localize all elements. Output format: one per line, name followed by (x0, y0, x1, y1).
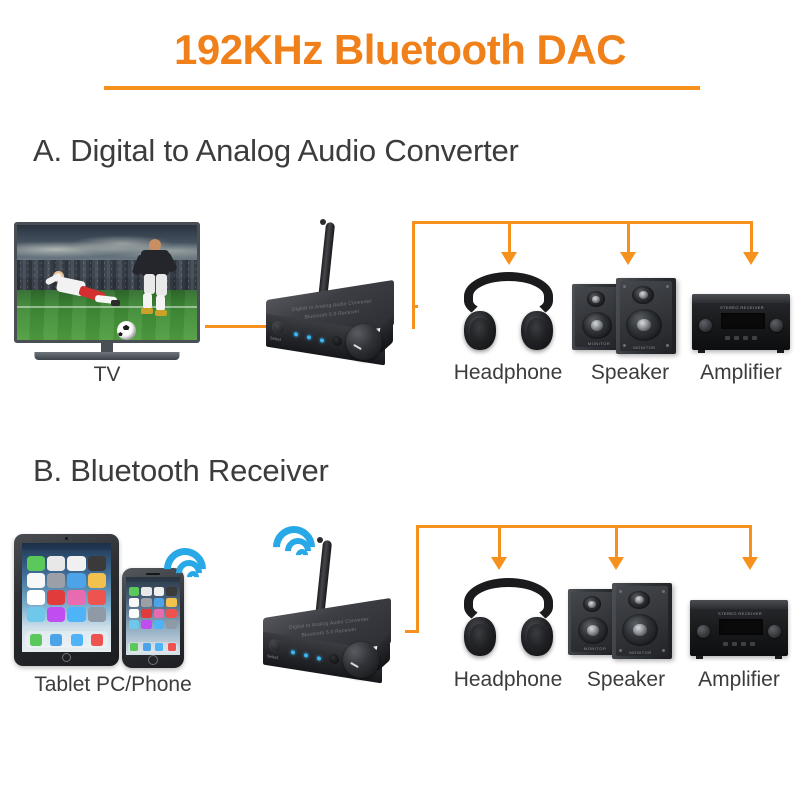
title-underline (104, 86, 700, 90)
tweeter-right (632, 286, 654, 304)
bus-main-b (416, 525, 752, 528)
bus-drop-speaker-b (615, 525, 618, 559)
tablet-screen (22, 543, 111, 653)
bus-drop-amplifier-a (750, 221, 753, 254)
tablet-dock[interactable] (25, 631, 107, 647)
bus-riser-a (412, 305, 415, 329)
caption-headphone-a: Headphone (428, 361, 588, 385)
led-indicator-3 (320, 338, 324, 343)
amplifier-device-b: STEREO RECEIVER (690, 600, 788, 656)
woofer-right (626, 309, 662, 341)
woofer-left (582, 312, 612, 339)
app-icon[interactable] (141, 620, 152, 629)
speaker-left-logo: MONITOR (588, 341, 610, 346)
headphone-device-b (464, 578, 553, 656)
led-indicator-2 (307, 335, 311, 340)
amplifier-knob-right[interactable] (770, 319, 783, 332)
amplifier-top (692, 294, 790, 303)
app-icon[interactable] (47, 590, 65, 605)
caption-tv: TV (14, 363, 200, 387)
app-icon[interactable] (67, 556, 85, 571)
dac-device-b: Digital to Analog Audio Converter Blueto… (255, 530, 407, 670)
wifi-icon-dac (271, 524, 327, 572)
tweeter-left (587, 291, 605, 307)
volume-knob[interactable] (346, 324, 382, 360)
amplifier-top-b (690, 600, 788, 609)
app-icon[interactable] (67, 573, 85, 588)
app-icon[interactable] (141, 609, 152, 618)
app-icon[interactable] (141, 598, 152, 607)
speaker-right-face-b: MONITOR (616, 586, 669, 656)
headphone-cup-left-b (464, 617, 496, 656)
tweeter-left-b (583, 596, 601, 612)
amplifier-knob-left-b[interactable] (697, 625, 710, 638)
speaker-left-logo-b: MONITOR (584, 646, 606, 651)
app-icon[interactable] (154, 620, 165, 629)
app-icon[interactable] (67, 590, 85, 605)
dock-app-icon[interactable] (168, 643, 176, 651)
dac-device-a: Digital to Analog Audio Converter Blueto… (258, 222, 410, 362)
headphone-device-a (464, 272, 553, 350)
app-icon[interactable] (27, 556, 45, 571)
headphone-cup-right (521, 311, 553, 350)
app-icon[interactable] (141, 587, 152, 596)
tablet-phone-group (14, 530, 214, 670)
app-icon[interactable] (27, 607, 45, 622)
app-icon[interactable] (27, 590, 45, 605)
speaker-right-face: MONITOR (620, 281, 673, 351)
headphone-cup-right-b (521, 617, 553, 656)
speaker-device-a: MONITOR MONITOR (572, 278, 688, 354)
bus-drop-headphone-a (508, 221, 511, 254)
tablet-device (14, 534, 119, 666)
app-icon[interactable] (129, 609, 140, 618)
speaker-right-logo: MONITOR (633, 345, 655, 350)
arrow-speaker-a (620, 252, 636, 265)
dock-app-icon[interactable] (50, 634, 62, 646)
amplifier-knob-left[interactable] (699, 319, 712, 332)
app-icon[interactable] (129, 598, 140, 607)
section-b-heading: B. Bluetooth Receiver (33, 453, 329, 489)
caption-amplifier-b: Amplifier (681, 668, 797, 692)
app-icon[interactable] (154, 598, 165, 607)
bus-left-drop-b (416, 525, 419, 633)
phone-earpiece (146, 573, 161, 575)
led-indicator-1 (294, 332, 298, 337)
knob-indicator-b (350, 662, 359, 668)
caption-speaker-a: Speaker (570, 361, 690, 385)
speaker-device-b: MONITOR MONITOR (568, 583, 684, 659)
speaker-right: MONITOR (616, 278, 676, 354)
dock-app-icon[interactable] (30, 634, 42, 646)
speaker-left-face-b: MONITOR (571, 592, 617, 653)
amplifier-brand: STEREO RECEIVER (720, 305, 764, 310)
tablet-app-grid[interactable] (27, 556, 106, 622)
headphone-jack-b[interactable] (329, 653, 339, 665)
app-icon[interactable] (47, 573, 65, 588)
woofer-left-b (578, 617, 608, 644)
caption-headphone-b: Headphone (428, 668, 588, 692)
woofer-right-b (622, 614, 658, 646)
speaker-right-logo-b: MONITOR (629, 650, 651, 655)
bus-drop-speaker-a (627, 221, 630, 254)
app-icon[interactable] (166, 598, 177, 607)
knob-indicator (353, 344, 362, 350)
dock-app-icon[interactable] (71, 634, 83, 646)
app-icon[interactable] (47, 607, 65, 622)
app-icon[interactable] (88, 607, 106, 622)
app-icon[interactable] (88, 590, 106, 605)
led-indicator-2-b (304, 653, 308, 658)
arrow-amplifier-a (743, 252, 759, 265)
arrow-amplifier-b (742, 557, 758, 570)
power-button-b[interactable] (269, 639, 282, 654)
phone-dock[interactable] (128, 642, 178, 653)
select-label: Select (270, 335, 281, 342)
tablet-statusbar (22, 543, 111, 551)
app-icon[interactable] (88, 573, 106, 588)
caption-amplifier-a: Amplifier (683, 361, 799, 385)
app-icon[interactable] (154, 609, 165, 618)
soccer-ball (117, 321, 136, 340)
led-indicator-3-b (317, 656, 321, 661)
power-button[interactable] (272, 321, 285, 336)
select-label-b: Select (267, 653, 278, 660)
tablet-home-button[interactable] (62, 653, 71, 662)
amplifier-knob-right-b[interactable] (768, 625, 781, 638)
arrow-speaker-b (608, 557, 624, 570)
app-icon[interactable] (67, 607, 85, 622)
section-a-heading: A. Digital to Analog Audio Converter (33, 133, 519, 169)
caption-speaker-b: Speaker (566, 668, 686, 692)
speaker-left-face: MONITOR (575, 287, 621, 348)
antenna-tip (320, 219, 326, 225)
app-icon[interactable] (166, 620, 177, 629)
dock-app-icon[interactable] (143, 643, 151, 651)
caption-tablet-phone: Tablet PC/Phone (6, 673, 220, 697)
arrow-headphone-a (501, 252, 517, 265)
headphone-jack[interactable] (332, 335, 342, 347)
phone-app-grid[interactable] (129, 587, 177, 629)
player-standing (125, 239, 181, 325)
tweeter-right-b (628, 591, 650, 609)
volume-knob-b[interactable] (343, 642, 379, 678)
amplifier-display (721, 313, 765, 329)
bus-main-a (412, 221, 752, 224)
bus-drop-headphone-b (498, 525, 501, 559)
app-icon[interactable] (129, 620, 140, 629)
tv-screen (14, 222, 200, 343)
app-icon[interactable] (88, 556, 106, 571)
app-icon[interactable] (27, 573, 45, 588)
app-icon[interactable] (47, 556, 65, 571)
app-icon[interactable] (129, 587, 140, 596)
led-indicator-1-b (291, 650, 295, 655)
infographic-page: 192KHz Bluetooth DAC A. Digital to Analo… (0, 0, 800, 800)
dock-app-icon[interactable] (155, 643, 163, 651)
phone-home-button[interactable] (148, 655, 158, 665)
amplifier-device-a: STEREO RECEIVER (692, 294, 790, 350)
player-sliding (39, 265, 111, 317)
bus-drop-amplifier-b (749, 525, 752, 559)
headphone-cup-left (464, 311, 496, 350)
tablet-camera (65, 537, 68, 540)
speaker-right-b: MONITOR (612, 583, 672, 659)
arrow-headphone-b (491, 557, 507, 570)
wifi-icon-tablet (162, 546, 218, 592)
bus-left-drop-a (412, 221, 415, 307)
dock-app-icon[interactable] (91, 634, 103, 646)
tv-stand-base (34, 352, 179, 360)
tv-device (14, 222, 200, 360)
amplifier-display-b (719, 619, 763, 635)
page-title: 192KHz Bluetooth DAC (0, 26, 800, 74)
app-icon[interactable] (166, 609, 177, 618)
dock-app-icon[interactable] (130, 643, 138, 651)
amplifier-brand-b: STEREO RECEIVER (718, 611, 762, 616)
